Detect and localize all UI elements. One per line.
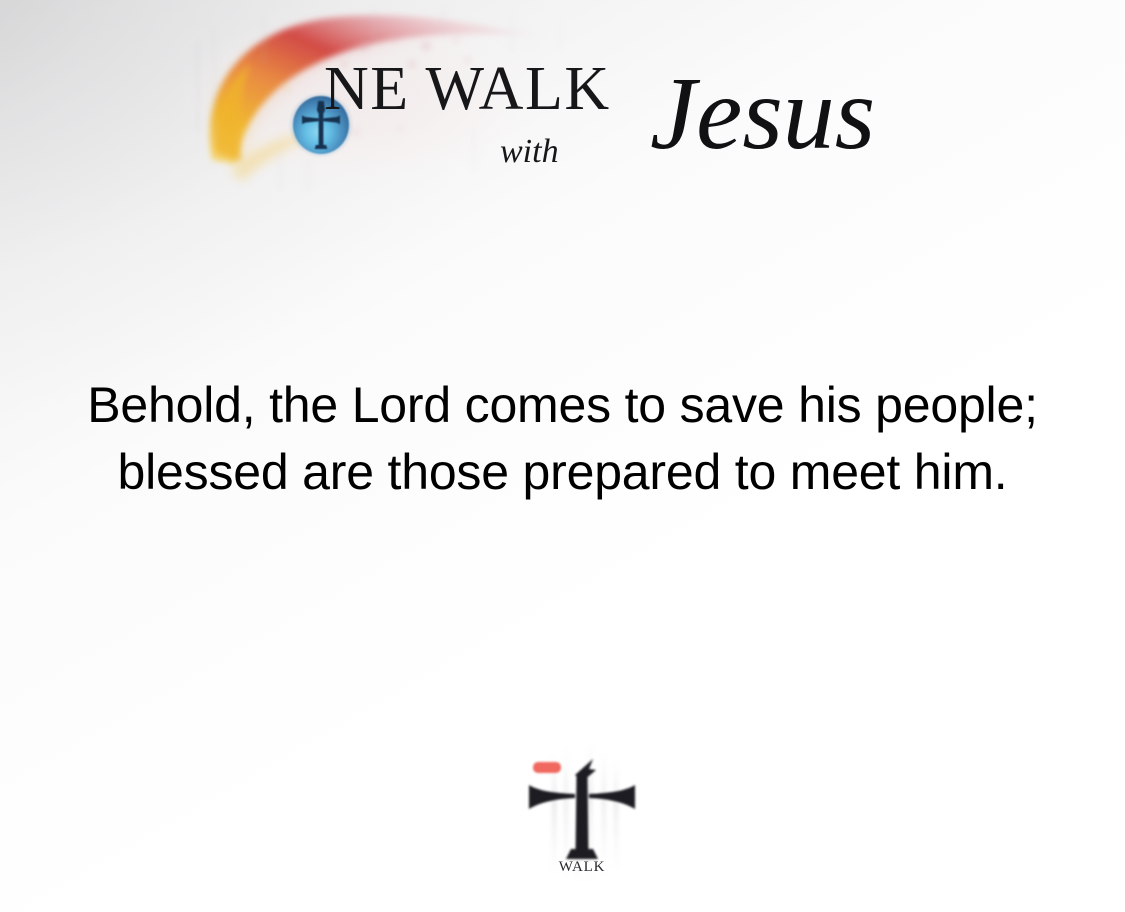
- logo-wordmark: NE WALK with Jesus: [220, 40, 960, 180]
- verse-line-1: Behold, the Lord comes to save his peopl…: [0, 372, 1125, 439]
- flared-cross-icon: WALK: [497, 737, 667, 887]
- accent-dash-icon: [533, 762, 561, 773]
- footer-walk-text: WALK: [559, 859, 606, 875]
- slide-canvas: NE WALK with Jesus Behold, the Lord come…: [0, 0, 1125, 912]
- verse-line-2: blessed are those prepared to meet him.: [0, 439, 1125, 506]
- footer-walk-logo: WALK: [497, 737, 667, 887]
- logo-text-one-walk: NE WALK: [278, 58, 611, 120]
- logo-text-with: with: [500, 135, 559, 169]
- scripture-verse: Behold, the Lord comes to save his peopl…: [0, 372, 1125, 506]
- one-walk-with-jesus-logo: NE WALK with Jesus: [168, 2, 958, 192]
- logo-text-jesus: Jesus: [650, 62, 875, 166]
